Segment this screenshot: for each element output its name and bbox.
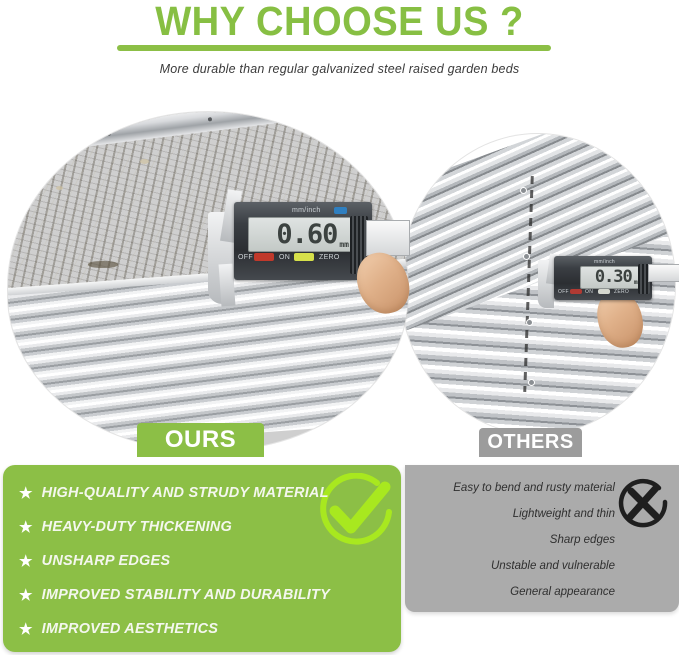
list-item: ★ UNSHARP EDGES [19, 544, 391, 578]
header: WHY CHOOSE US ? More durable than regula… [0, 0, 679, 92]
caliper-on-label: ON [279, 254, 290, 261]
page-subtitle: More durable than regular galvanized ste… [0, 62, 679, 76]
list-item: ★ HEAVY-DUTY THICKENING [19, 510, 391, 544]
caliper-off-label: OFF [238, 254, 253, 261]
rail-screw [208, 117, 212, 121]
list-item: General appearance [413, 579, 615, 605]
list-item: Sharp edges [413, 527, 615, 553]
caliper-scale [648, 264, 679, 282]
caliper-body: mm/inch 0.30 mm OFF ON ZERO [554, 256, 652, 300]
caliper-mode-button[interactable] [334, 207, 347, 214]
photo-collage: mm/inch 0.30 mm OFF ON ZERO [0, 96, 679, 462]
list-item: ★ IMPROVED STABILITY AND DURABILITY [19, 578, 391, 612]
coil-rivet [521, 188, 526, 193]
list-item-label: UNSHARP EDGES [42, 553, 171, 569]
ours-panel: ★ HIGH-QUALITY AND STRUDY MATERIAL ★ HEA… [3, 465, 401, 652]
caliper-zero-label: ZERO [614, 289, 629, 295]
caliper-on-label: ON [585, 289, 593, 295]
others-panel: Easy to bend and rusty material Lightwei… [405, 465, 679, 612]
badge-others: OTHERS [479, 428, 582, 457]
list-item-label: HIGH-QUALITY AND STRUDY MATERIAL [42, 485, 329, 501]
caliper-value: 0.30 [595, 269, 634, 286]
caliper-lower-jaw [219, 264, 236, 307]
x-circle-icon [615, 475, 671, 531]
title-underline [117, 45, 551, 51]
list-item: Lightweight and thin [413, 501, 615, 527]
why-choose-us-infographic: WHY CHOOSE US ? More durable than regula… [0, 0, 679, 655]
list-item-label: HEAVY-DUTY THICKENING [42, 519, 232, 535]
others-list: Easy to bend and rusty material Lightwei… [413, 475, 615, 605]
caliper-off-button[interactable] [570, 289, 582, 294]
caliper-off-button[interactable] [254, 253, 274, 261]
caliper-off-label: OFF [558, 289, 569, 295]
ours-list: ★ HIGH-QUALITY AND STRUDY MATERIAL ★ HEA… [19, 476, 391, 646]
star-icon: ★ [19, 520, 33, 535]
list-item: ★ HIGH-QUALITY AND STRUDY MATERIAL [19, 476, 391, 510]
caliper-display: 0.60 mm [248, 217, 352, 252]
rail-screw [107, 131, 111, 135]
star-icon: ★ [19, 588, 33, 603]
caliper-unit-label: mm/inch [594, 259, 615, 265]
list-item: ★ IMPROVED AESTHETICS [19, 612, 391, 646]
star-icon: ★ [19, 486, 33, 501]
caliper-zero-label: ZERO [319, 254, 340, 261]
list-item: Unstable and vulnerable [413, 553, 615, 579]
caliper-body: mm/inch 0.60 mm OFF ON ZERO [234, 202, 372, 280]
coil-rivet [527, 320, 532, 325]
list-item-label: IMPROVED AESTHETICS [42, 621, 218, 637]
page-title: WHY CHOOSE US ? [24, 0, 655, 44]
caliper-value: 0.60 [276, 221, 339, 248]
caliper-ours: mm/inch 0.60 mm OFF ON ZERO [208, 190, 408, 310]
caliper-others: mm/inch 0.30 mm OFF ON ZERO [538, 252, 678, 316]
caliper-scale [366, 220, 410, 256]
coil-rivet [524, 254, 529, 259]
star-icon: ★ [19, 622, 33, 637]
caliper-unit-label: mm/inch [292, 207, 321, 214]
caliper-display: 0.30 mm [580, 266, 644, 289]
list-item: Easy to bend and rusty material [413, 475, 615, 501]
list-item-label: IMPROVED STABILITY AND DURABILITY [42, 587, 330, 603]
soil-crack [88, 261, 118, 268]
badge-ours: OURS [137, 423, 264, 457]
star-icon: ★ [19, 554, 33, 569]
caliper-on-button[interactable] [294, 253, 314, 261]
caliper-on-button[interactable] [598, 289, 610, 294]
